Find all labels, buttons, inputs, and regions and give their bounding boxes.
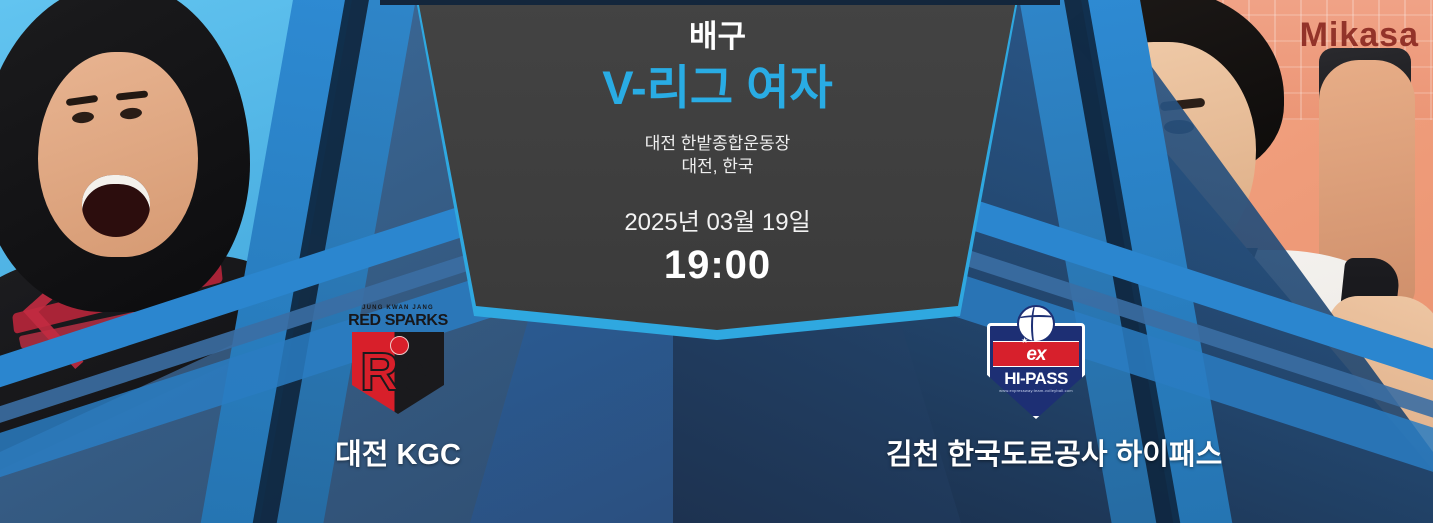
crest-sponsor-text: JUNG KWAN JANG xyxy=(328,305,468,311)
crest-shield: R S xyxy=(352,332,444,414)
player-mouth xyxy=(82,175,150,237)
match-date: 2025년 03월 19일 xyxy=(430,202,1005,237)
crest-url-text: www.expressway.team-volleyball.com xyxy=(987,388,1085,393)
hipass-logo: ex ★ HI-PASS www.expressway.team-volleyb… xyxy=(981,305,1091,423)
match-info-block: 배구 V-리그 여자 대전 한밭종합운동장 대전, 한국 2025년 03월 1… xyxy=(430,18,1005,288)
match-banner: 다수 Mikasa 김천시 ✳ 도로공사 배구 xyxy=(0,0,1433,523)
venue-block: 대전 한밭종합운동장 대전, 한국 xyxy=(430,133,1005,179)
away-team-crest: ex ★ HI-PASS www.expressway.team-volleyb… xyxy=(886,305,1186,423)
sport-label: 배구 xyxy=(430,18,1005,55)
home-team-crest: JUNG KWAN JANG RED SPARKS R S xyxy=(248,305,548,423)
crest-brand-text: ex xyxy=(993,342,1079,368)
star-icon: ★ xyxy=(1021,336,1028,345)
crest-wordmark: RED SPARKS xyxy=(328,313,468,329)
away-team-name: 김천 한국도로공사 하이패스 xyxy=(886,431,1186,473)
top-accent-strip xyxy=(380,0,1060,5)
crest-monogram-s: S xyxy=(396,354,433,400)
away-team-block[interactable]: ex ★ HI-PASS www.expressway.team-volleyb… xyxy=(886,305,1186,473)
league-title: V-리그 여자 xyxy=(430,59,1005,118)
crest-wordmark: HI-PASS xyxy=(987,369,1085,389)
match-time: 19:00 xyxy=(430,243,1005,288)
red-sparks-logo: JUNG KWAN JANG RED SPARKS R S xyxy=(328,305,468,423)
venue-city: 대전, 한국 xyxy=(430,156,1005,179)
crest-red-banner: ex xyxy=(993,341,1079,367)
crest-monogram-r: R xyxy=(360,350,399,394)
home-team-block[interactable]: JUNG KWAN JANG RED SPARKS R S 대전 KGC xyxy=(248,305,548,473)
venue-name: 대전 한밭종합운동장 xyxy=(645,134,790,153)
home-team-name: 대전 KGC xyxy=(248,431,548,473)
